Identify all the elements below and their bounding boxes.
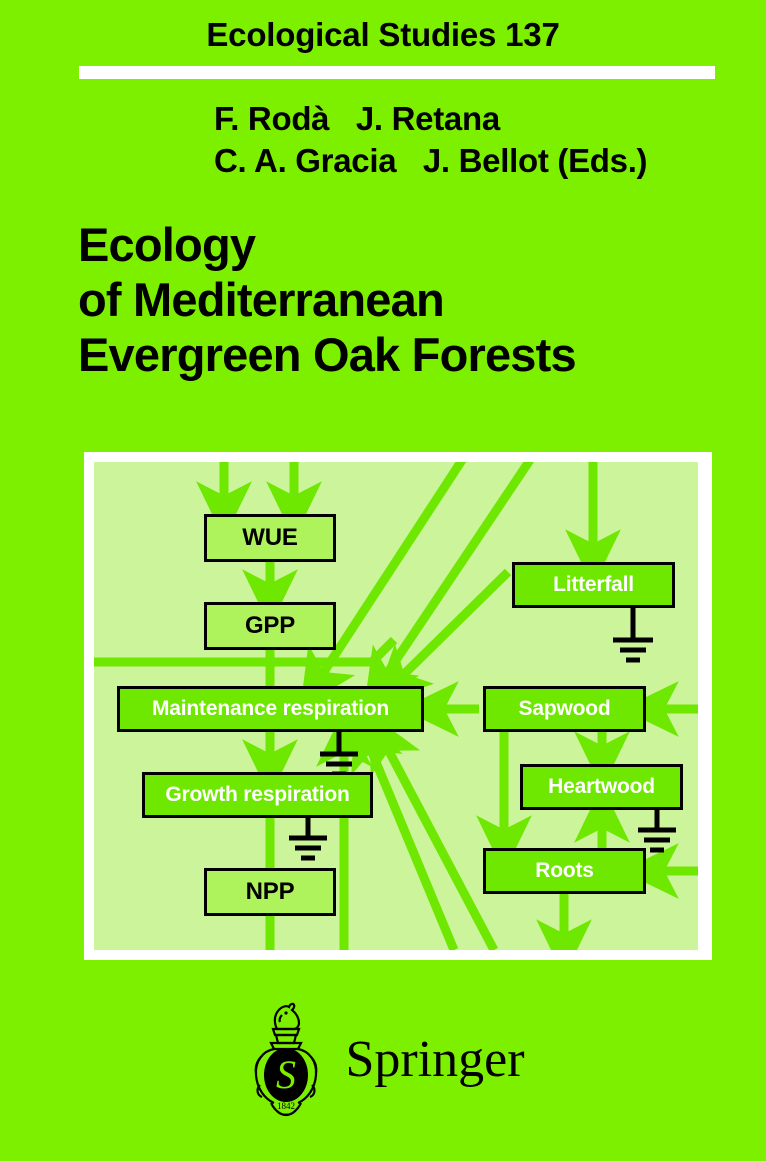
node-growth-respiration: Growth respiration [142,772,373,818]
publisher-name: Springer [345,1034,524,1086]
node-maintenance-respiration: Maintenance respiration [117,686,424,732]
node-roots: Roots [483,848,646,894]
cover-figure-panel: WUE GPP Maintenance respiration Growth r… [94,462,698,950]
node-heartwood: Heartwood [520,764,683,810]
node-npp: NPP [204,868,336,916]
editor-line-1: F. Rodà J. Retana [214,98,766,140]
node-litterfall: Litterfall [512,562,675,608]
node-sapwood: Sapwood [483,686,646,732]
flow-diagram-nodes: WUE GPP Maintenance respiration Growth r… [94,462,698,950]
title-line-2: of Mediterranean [78,273,738,328]
publisher-block: S 1842 Springer [0,995,766,1125]
book-cover: Ecological Studies 137 F. Rodà J. Retana… [0,0,766,1161]
editors-block: F. Rodà J. Retana C. A. Gracia J. Bellot… [0,98,766,182]
node-gpp: GPP [204,602,336,650]
book-title: Ecology of Mediterranean Evergreen Oak F… [78,218,738,383]
springer-logo-year: 1842 [277,1101,295,1111]
title-line-3: Evergreen Oak Forests [78,328,738,383]
editor-line-2: C. A. Gracia J. Bellot (Eds.) [214,140,766,182]
springer-knight-logo: S 1842 [241,999,327,1121]
title-rule-divider [79,66,715,79]
title-line-1: Ecology [78,218,738,273]
node-wue: WUE [204,514,336,562]
svg-text:S: S [276,1052,296,1097]
series-title: Ecological Studies 137 [0,16,766,54]
